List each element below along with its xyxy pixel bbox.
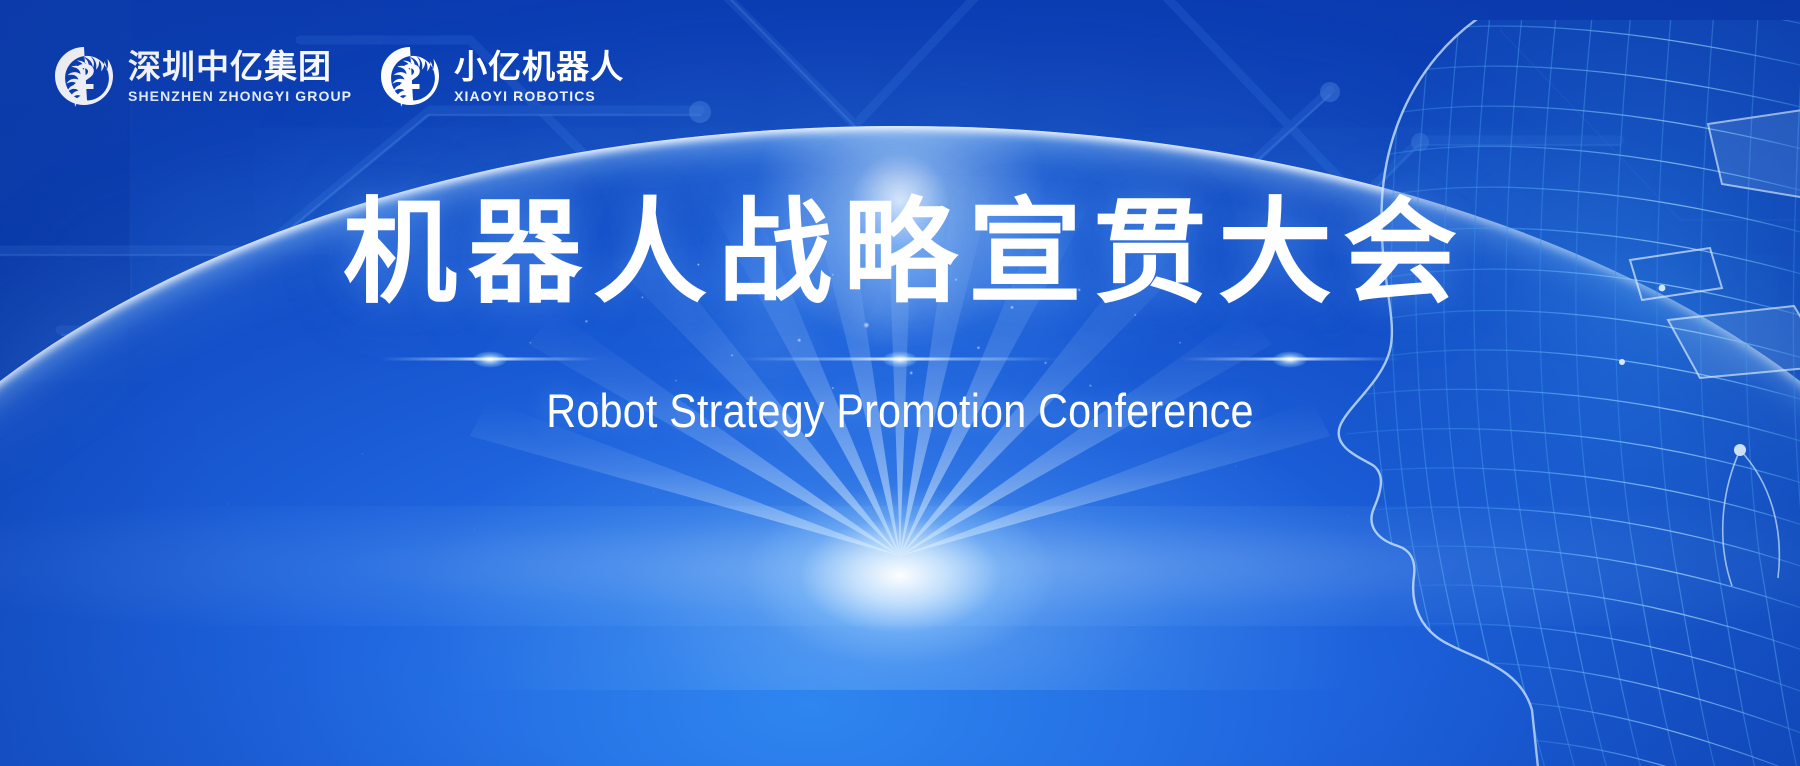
page-subtitle: Robot Strategy Promotion Conference bbox=[108, 386, 1692, 437]
light-streak-divider bbox=[0, 346, 1800, 372]
logo-xiaoyi-text: 小亿机器人 XIAOYI ROBOTICS bbox=[454, 50, 624, 103]
page-title: 机器人战略宣贯大会 bbox=[0, 196, 1800, 310]
title-block: 机器人战略宣贯大会 Robot Strategy Promotion Confe… bbox=[0, 196, 1800, 437]
logo-zhongyi-en: SHENZHEN ZHONGYI GROUP bbox=[128, 89, 352, 103]
logo-xiaoyi-en: XIAOYI ROBOTICS bbox=[454, 89, 624, 103]
logo-zhongyi[interactable]: 深圳中亿集团 SHENZHEN ZHONGYI GROUP bbox=[52, 44, 352, 108]
xiaoyi-circle-logo-icon bbox=[378, 44, 442, 108]
logo-xiaoyi[interactable]: 小亿机器人 XIAOYI ROBOTICS bbox=[378, 44, 624, 108]
logo-xiaoyi-cn: 小亿机器人 bbox=[454, 50, 624, 83]
logo-bar: 深圳中亿集团 SHENZHEN ZHONGYI GROUP 小亿机器人 XIAO… bbox=[52, 44, 624, 108]
light-streak-icon bbox=[380, 358, 600, 361]
light-streak-icon bbox=[1180, 358, 1400, 361]
light-streak-icon bbox=[740, 358, 1060, 361]
conference-banner: 深圳中亿集团 SHENZHEN ZHONGYI GROUP 小亿机器人 XIAO… bbox=[0, 0, 1800, 766]
zhongyi-circle-logo-icon bbox=[52, 44, 116, 108]
logo-zhongyi-text: 深圳中亿集团 SHENZHEN ZHONGYI GROUP bbox=[128, 50, 352, 103]
logo-zhongyi-cn: 深圳中亿集团 bbox=[128, 50, 352, 83]
